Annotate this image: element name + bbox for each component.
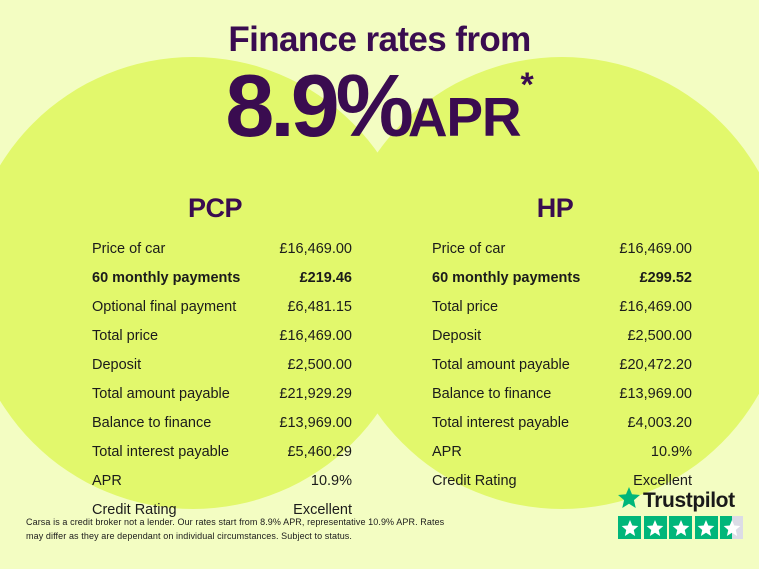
trustpilot-star-icon	[618, 487, 640, 513]
finance-table-hp-rows: Price of car £16,469.00 60 monthly payme…	[412, 242, 698, 489]
row-value: £299.52	[640, 271, 692, 286]
table-row: 60 monthly payments £299.52	[412, 271, 698, 286]
table-row: Total price £16,469.00	[72, 329, 358, 344]
table-row: 60 monthly payments £219.46	[72, 271, 358, 286]
rating-star-icon	[644, 516, 667, 539]
row-value: £13,969.00	[279, 416, 352, 431]
row-label: 60 monthly payments	[92, 271, 240, 286]
row-value: Excellent	[633, 474, 692, 489]
table-row: Total amount payable £21,929.29	[72, 387, 358, 402]
row-value: £5,460.29	[287, 445, 352, 460]
trustpilot-badge[interactable]: Trustpilot	[618, 488, 746, 539]
headline-rate: 8.9%APR*	[0, 62, 759, 150]
trustpilot-wordmark: Trustpilot	[618, 488, 746, 512]
trustpilot-label: Trustpilot	[643, 490, 735, 511]
row-value: £219.46	[300, 271, 352, 286]
row-label: Total interest payable	[432, 416, 569, 431]
trustpilot-rating-stars	[618, 516, 746, 539]
rate-number: 8.9%	[225, 56, 410, 155]
row-label: Deposit	[92, 358, 141, 373]
finance-table-pcp: PCP Price of car £16,469.00 60 monthly p…	[72, 193, 358, 532]
rating-star-icon	[669, 516, 692, 539]
row-value: £2,500.00	[287, 358, 352, 373]
row-label: Total price	[432, 300, 498, 315]
table-row: Price of car £16,469.00	[412, 242, 698, 257]
row-label: 60 monthly payments	[432, 271, 580, 286]
finance-table-pcp-title: PCP	[72, 193, 358, 224]
row-value: £16,469.00	[619, 300, 692, 315]
row-value: £20,472.20	[619, 358, 692, 373]
row-label: APR	[432, 445, 462, 460]
table-row: Total interest payable £5,460.29	[72, 445, 358, 460]
row-label: Total amount payable	[92, 387, 230, 402]
rating-star-half-icon	[720, 516, 743, 539]
row-label: APR	[92, 474, 122, 489]
table-row: Total amount payable £20,472.20	[412, 358, 698, 373]
table-row: Deposit £2,500.00	[72, 358, 358, 373]
row-label: Total price	[92, 329, 158, 344]
table-row: APR 10.9%	[72, 474, 358, 489]
row-value: £16,469.00	[279, 242, 352, 257]
table-row: Balance to finance £13,969.00	[72, 416, 358, 431]
row-label: Optional final payment	[92, 300, 236, 315]
finance-table-hp: HP Price of car £16,469.00 60 monthly pa…	[412, 193, 698, 503]
row-value: £16,469.00	[279, 329, 352, 344]
table-row: Deposit £2,500.00	[412, 329, 698, 344]
rating-star-icon	[618, 516, 641, 539]
row-value: 10.9%	[651, 445, 692, 460]
row-label: Total interest payable	[92, 445, 229, 460]
rate-suffix: APR	[408, 86, 521, 148]
row-label: Credit Rating	[432, 474, 517, 489]
rating-star-icon	[695, 516, 718, 539]
table-row: Price of car £16,469.00	[72, 242, 358, 257]
table-row: Credit Rating Excellent	[412, 474, 698, 489]
asterisk-marker: *	[520, 66, 533, 104]
finance-table-pcp-rows: Price of car £16,469.00 60 monthly payme…	[72, 242, 358, 518]
row-label: Total amount payable	[432, 358, 570, 373]
row-value: £21,929.29	[279, 387, 352, 402]
table-row: Total interest payable £4,003.20	[412, 416, 698, 431]
table-row: Balance to finance £13,969.00	[412, 387, 698, 402]
finance-rates-poster: Finance rates from 8.9%APR* PCP Price of…	[0, 0, 759, 569]
page-title: Finance rates from	[0, 22, 759, 59]
row-value: £6,481.15	[287, 300, 352, 315]
table-row: APR 10.9%	[412, 445, 698, 460]
row-label: Price of car	[92, 242, 165, 257]
row-label: Deposit	[432, 329, 481, 344]
row-value: £4,003.20	[627, 416, 692, 431]
row-label: Balance to finance	[432, 387, 551, 402]
finance-table-hp-title: HP	[412, 193, 698, 224]
row-label: Balance to finance	[92, 416, 211, 431]
table-row: Total price £16,469.00	[412, 300, 698, 315]
row-value: £16,469.00	[619, 242, 692, 257]
legal-disclaimer: Carsa is a credit broker not a lender. O…	[26, 516, 446, 544]
table-row: Optional final payment £6,481.15	[72, 300, 358, 315]
poster-content: Finance rates from 8.9%APR* PCP Price of…	[0, 0, 759, 569]
row-value: £13,969.00	[619, 387, 692, 402]
row-value: 10.9%	[311, 474, 352, 489]
row-label: Price of car	[432, 242, 505, 257]
row-value: £2,500.00	[627, 329, 692, 344]
